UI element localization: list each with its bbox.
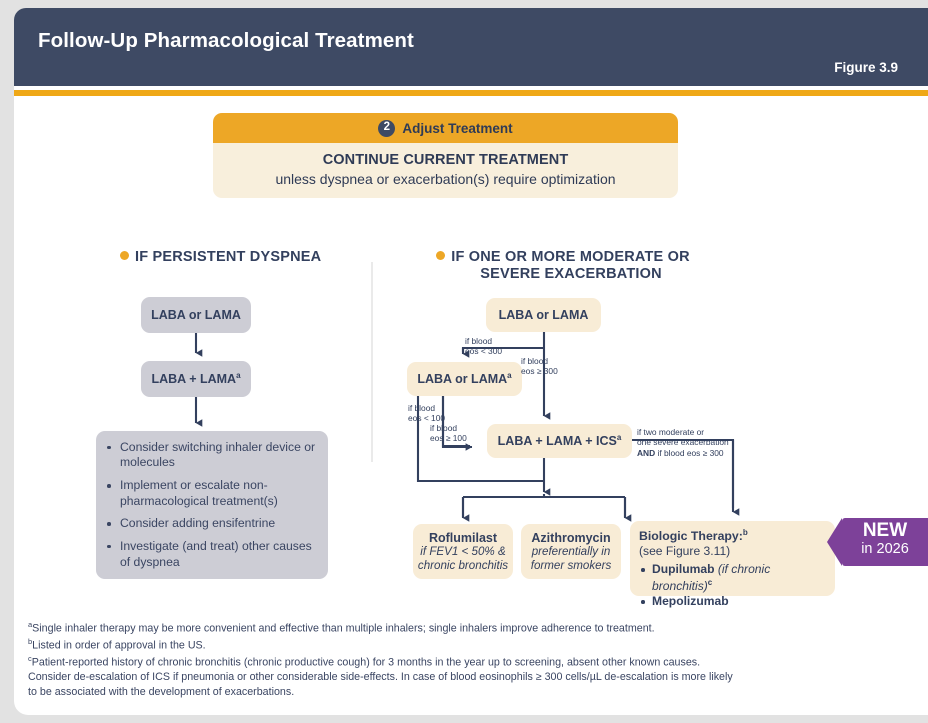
box-left-recommendations: Consider switching inhaler device or mol… (96, 431, 328, 579)
footnote-marker-b: b (743, 528, 748, 537)
footnote-marker-c: c (708, 578, 712, 587)
box-azithromycin: Azithromycin preferentially in former sm… (521, 524, 621, 579)
box-subtext-line1: preferentially in (532, 545, 611, 559)
footnote-c: cPatient-reported history of chronic bro… (28, 654, 828, 671)
footnote-marker-a: a (507, 371, 511, 380)
adjust-treatment-banner: 2 Adjust Treatment CONTINUE CURRENT TREA… (213, 113, 678, 198)
box-label: Roflumilast (429, 531, 497, 545)
bullet-dot-icon (436, 251, 445, 260)
left-column-heading: IF PERSISTENT DYSPNEA (120, 248, 321, 266)
box-label: Biologic Therapy:b (639, 528, 748, 543)
box-label: LABA or LAMAa (417, 371, 511, 386)
box-subtext-line2: chronic bronchitis (418, 559, 508, 573)
list-item: Implement or escalate non-pharmacologica… (104, 478, 318, 509)
list-item: Mepolizumab (639, 594, 826, 609)
figure-header: Follow-Up Pharmacological Treatment Figu… (14, 8, 928, 86)
and-emphasis: AND (637, 448, 655, 458)
footnotes: aSingle inhaler therapy may be more conv… (28, 620, 828, 701)
right-column-heading: IF ONE OR MORE MODERATE OR SEVERE EXACER… (427, 248, 699, 282)
box-biologic-therapy: Biologic Therapy:b (see Figure 3.11) Dup… (630, 521, 835, 596)
biologic-list: Dupilumab (if chronic bronchitis)c Mepol… (639, 562, 826, 609)
list-item: Investigate (and treat) other causes of … (104, 539, 318, 570)
banner-body-title: CONTINUE CURRENT TREATMENT (223, 152, 668, 168)
banner-header-label: Adjust Treatment (402, 121, 512, 136)
page-title: Follow-Up Pharmacological Treatment (38, 29, 414, 53)
banner-body-subtitle: unless dyspnea or exacerbation(s) requir… (223, 171, 668, 187)
box-roflumilast: Roflumilast if FEV1 < 50% & chronic bron… (413, 524, 513, 579)
badge-line-new: NEW (842, 521, 928, 541)
box-label: LABA + LAMAa (151, 371, 240, 386)
banner-header: 2 Adjust Treatment (213, 113, 678, 143)
box-label: LABA or LAMA (151, 308, 241, 322)
banner-body: CONTINUE CURRENT TREATMENT unless dyspne… (213, 143, 678, 198)
box-left-laba-or-lama: LABA or LAMA (141, 297, 251, 333)
badge-line-year: in 2026 (842, 541, 928, 558)
bullet-dot-icon (120, 251, 129, 260)
edge-label-eos-lt-100: if blood eos < 100 (408, 403, 445, 424)
recommendation-list: Consider switching inhaler device or mol… (104, 440, 318, 570)
edge-label-eos-ge-300: if blood eos ≥ 300 (521, 356, 558, 377)
right-column-heading-line1: IF ONE OR MORE MODERATE OR (451, 249, 690, 265)
right-column-heading-line2: SEVERE EXACERBATION (443, 266, 699, 282)
footnote-c-line3: to be associated with the development of… (28, 685, 828, 700)
list-item: Consider adding ensifentrine (104, 516, 318, 532)
figure-page: Follow-Up Pharmacological Treatment Figu… (0, 0, 928, 723)
edge-label-eos-lt-300: if blood eos < 300 (465, 336, 502, 357)
footnote-marker-a: a (617, 433, 621, 442)
box-label: LABA + LAMA + ICSa (498, 433, 622, 448)
box-right-laba-lama-ics: LABA + LAMA + ICSa (487, 424, 632, 458)
list-item: Dupilumab (if chronic bronchitis)c (639, 562, 826, 594)
figure-number: Figure 3.9 (834, 60, 898, 75)
footnote-a: aSingle inhaler therapy may be more conv… (28, 620, 828, 637)
list-item: Consider switching inhaler device or mol… (104, 440, 318, 471)
box-subtext-line2: former smokers (531, 559, 612, 573)
box-left-laba-plus-lama: LABA + LAMAa (141, 361, 251, 397)
left-column-heading-label: IF PERSISTENT DYSPNEA (135, 249, 321, 265)
box-see-reference: (see Figure 3.11) (639, 544, 730, 558)
box-right-laba-or-lama: LABA or LAMA (486, 298, 601, 332)
edge-label-two-moderate-or-severe: if two moderate or one severe exacerbati… (637, 427, 729, 458)
footnote-c-line2: Consider de-escalation of ICS if pneumon… (28, 670, 828, 685)
step-number-badge: 2 (378, 120, 395, 137)
box-right-laba-or-lama-a: LABA or LAMAa (407, 362, 522, 396)
box-subtext-line1: if FEV1 < 50% & (420, 545, 505, 559)
accent-rule (14, 90, 928, 96)
footnote-marker-a: a (236, 371, 240, 380)
column-divider (371, 262, 373, 462)
box-label: Azithromycin (531, 531, 610, 545)
box-label: LABA or LAMA (499, 308, 589, 322)
footnote-b: bListed in order of approval in the US. (28, 637, 828, 654)
new-in-2026-badge: NEW in 2026 (842, 518, 928, 566)
edge-label-eos-ge-100: if blood eos ≥ 100 (430, 423, 467, 444)
